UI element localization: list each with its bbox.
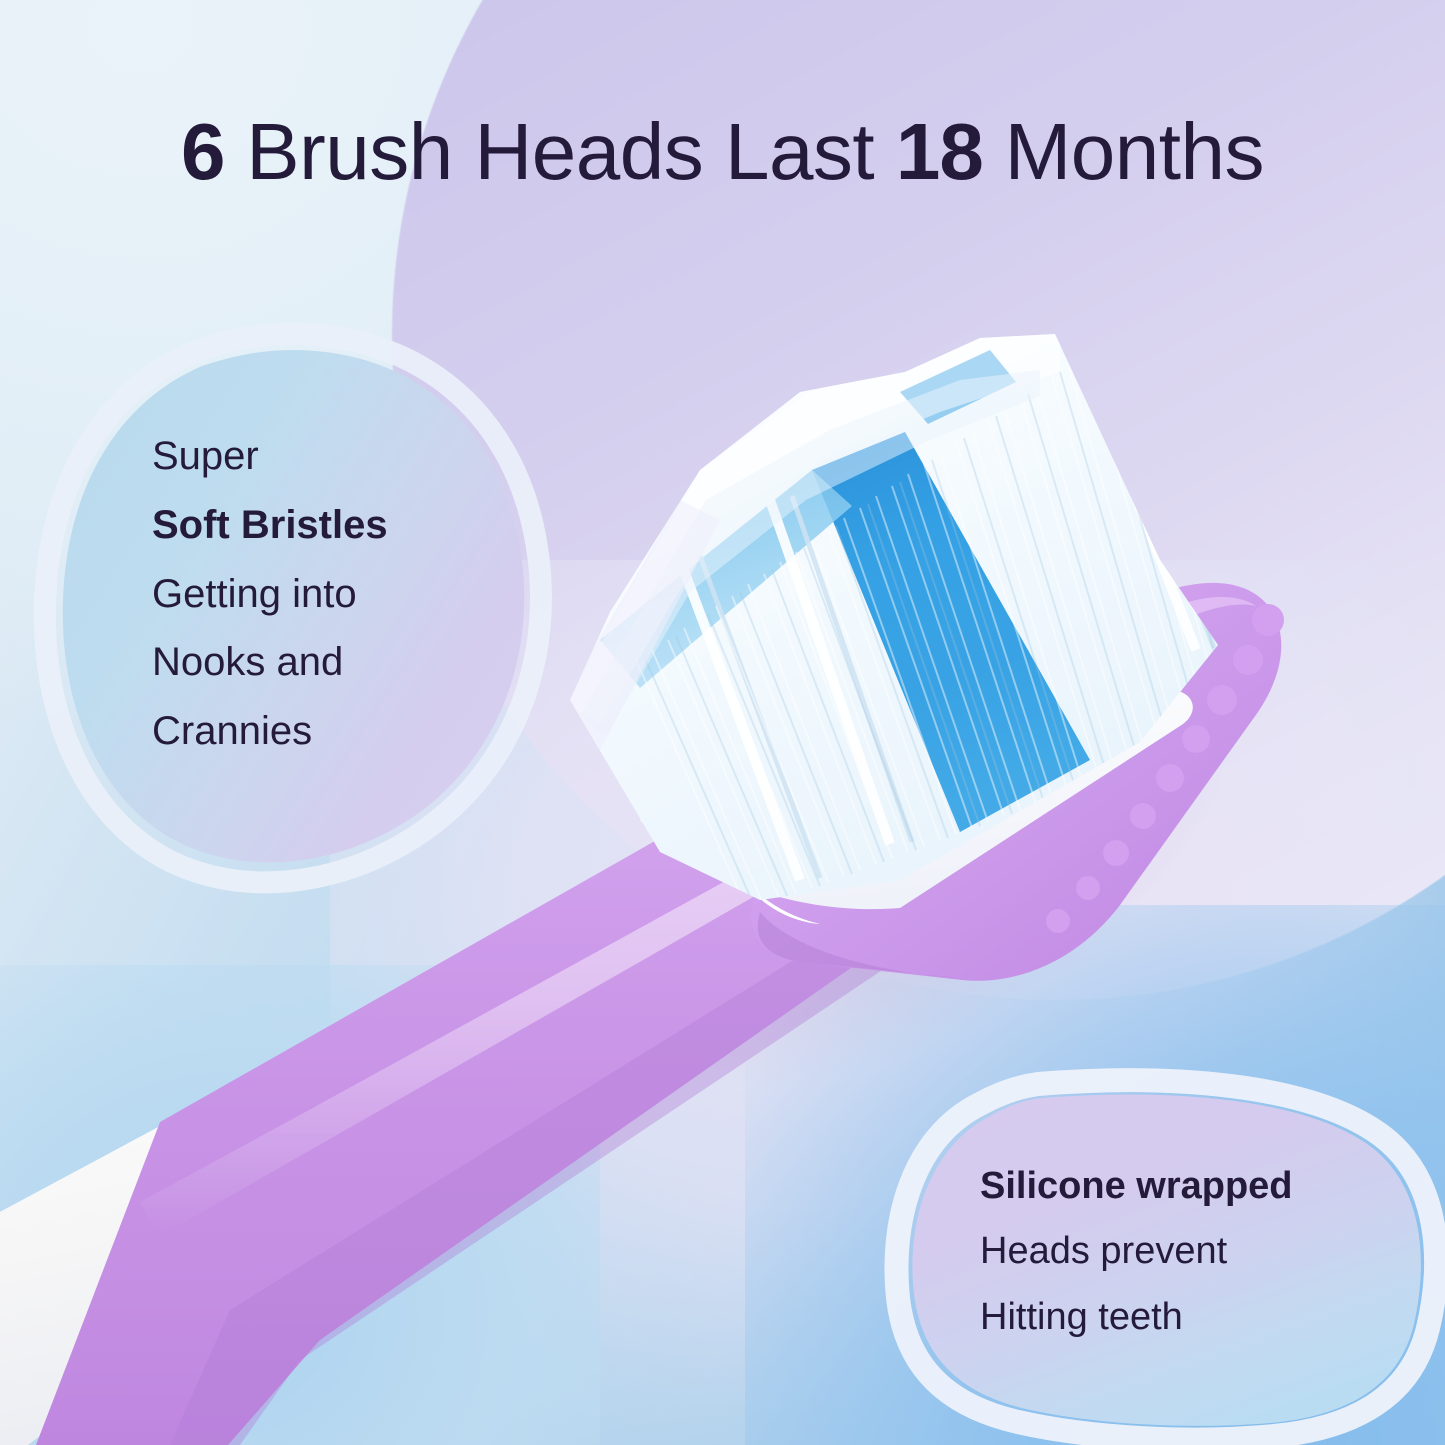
callout-left-line-3: Getting into (152, 560, 492, 629)
headline-count-heads: 6 (181, 107, 225, 196)
headline: 6 Brush Heads Last 18 Months (0, 112, 1445, 192)
callout-left-line-2: Soft Bristles (152, 491, 492, 560)
headline-tail-text: Months (983, 107, 1264, 196)
callout-left-line-1: Super (152, 422, 492, 491)
headline-count-months: 18 (896, 107, 983, 196)
callout-right-line-1: Silicone wrapped (980, 1154, 1410, 1219)
product-infographic: 6 Brush Heads Last 18 Months (0, 0, 1445, 1445)
callout-right-line-2: Heads prevent (980, 1219, 1410, 1284)
callout-right-line-3: Hitting teeth (980, 1285, 1410, 1350)
callout-left-line-4: Nooks and (152, 628, 492, 697)
headline-middle-text: Brush Heads Last (225, 107, 896, 196)
callout-right-text: Silicone wrapped Heads prevent Hitting t… (980, 1154, 1410, 1350)
callout-soft-bristles: Super Soft Bristles Getting into Nooks a… (30, 328, 555, 898)
callout-left-line-5: Crannies (152, 697, 492, 766)
callout-silicone-wrapped: Silicone wrapped Heads prevent Hitting t… (888, 1072, 1445, 1445)
callout-left-text: Super Soft Bristles Getting into Nooks a… (152, 422, 492, 766)
